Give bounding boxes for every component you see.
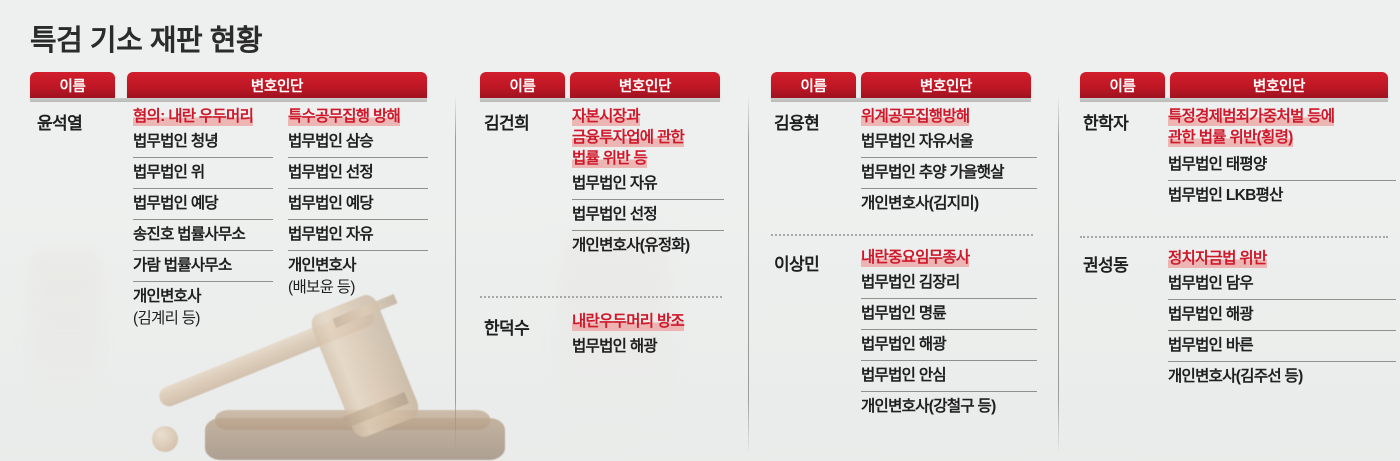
section-3: 이름 변호인단 김용현 위계공무집행방해 법무법인 자유서울 법무법인 추양 가… — [748, 72, 1058, 98]
charge-label-han-ducksoo: 내란우두머리 방조 — [572, 311, 724, 332]
section-3-header-row: 이름 변호인단 — [748, 72, 1058, 98]
section-4-header-underline — [1080, 98, 1388, 102]
section-4-header-row: 이름 변호인단 — [1058, 72, 1400, 98]
charge-column-kim-yonghyun: 위계공무집행방해 법무법인 자유서울 법무법인 추양 가을햇살 개인변호사(김지… — [861, 106, 1037, 219]
firm-item: 개인변호사(강철구 등) — [861, 392, 1037, 422]
charge-label-lee-sangmin: 내란중요임무종사 — [861, 247, 1037, 268]
firm-item: 법무법인 추양 가을햇살 — [861, 158, 1037, 189]
charge-text-han-ducksoo: 내란우두머리 방조 — [572, 313, 684, 331]
person-name-kim-yonghyun: 김용현 — [774, 109, 819, 134]
firm-item: 법무법인 자유 — [288, 220, 428, 251]
charge-text-lee-sangmin: 내란중요임무종사 — [861, 249, 969, 267]
charge-column-han-ducksoo: 내란우두머리 방조 법무법인 해광 — [572, 311, 724, 362]
section-divider-3 — [1058, 96, 1059, 454]
charge-text-line: 관한 법률 위반(횡령) — [1168, 129, 1293, 147]
charge-label-yoon-2: 특수공무집행 방해 — [288, 106, 428, 127]
person-separator-dotted — [771, 234, 1033, 236]
section-3-header-underline — [771, 98, 1031, 102]
section-1-counsel-header: 변호인단 — [127, 72, 427, 98]
charge-text-line: 자본시장과 — [572, 108, 640, 126]
section-1-name-header: 이름 — [30, 72, 115, 98]
charge-label-han-hakja: 특정경제범죄가중처벌 등에 관한 법률 위반(횡령) — [1168, 106, 1396, 148]
firm-item: 가람 법률사무소 — [133, 251, 273, 282]
section-2-counsel-header: 변호인단 — [570, 72, 720, 98]
section-2-header-underline — [480, 98, 720, 102]
firm-item: 법무법인 김장리 — [861, 268, 1037, 299]
person-separator-dotted — [480, 296, 722, 298]
person-name-yoon: 윤석열 — [37, 109, 82, 134]
section-3-counsel-header: 변호인단 — [861, 72, 1031, 98]
section-2: 이름 변호인단 김건희 자본시장과 금융투자업에 관한 법률 위반 등 법무법인… — [455, 72, 748, 98]
firm-item: 법무법인 자유 — [572, 169, 724, 200]
firm-item: 법무법인 위 — [133, 158, 273, 189]
person-separator-dotted — [1080, 236, 1388, 238]
firm-item: 개인변호사(김주선 등) — [1168, 362, 1396, 392]
firm-item: 법무법인 자유서울 — [861, 127, 1037, 158]
section-divider-1 — [455, 96, 456, 454]
charge-label-kwon-seongdong: 정치자금법 위반 — [1168, 248, 1396, 269]
firm-item: 법무법인 선정 — [288, 158, 428, 189]
charge-text-yoon-1: 혐의: 내란 우두머리 — [133, 108, 253, 126]
firm-item: 법무법인 안심 — [861, 361, 1037, 392]
charge-column-kwon-seongdong: 정치자금법 위반 법무법인 담우 법무법인 해광 법무법인 바른 개인변호사(김… — [1168, 248, 1396, 392]
charge-text-line: 법률 위반 등 — [572, 150, 647, 168]
charge-text-yoon-2: 특수공무집행 방해 — [288, 108, 400, 126]
section-2-header-row: 이름 변호인단 — [455, 72, 748, 98]
charge-label-kim-keonhee: 자본시장과 금융투자업에 관한 법률 위반 등 — [572, 106, 724, 169]
firm-item: 법무법인 태평양 — [1168, 150, 1396, 181]
section-1-header-row: 이름 변호인단 — [0, 72, 455, 98]
charge-label-kim-yonghyun: 위계공무집행방해 — [861, 106, 1037, 127]
firm-item: 법무법인 명륜 — [861, 299, 1037, 330]
person-name-han-hakja: 한학자 — [1083, 109, 1128, 134]
person-name-kwon-seongdong: 권성동 — [1083, 251, 1128, 276]
firm-item: 개인변호사(유정화) — [572, 231, 724, 261]
firm-item: 법무법인 해광 — [1168, 300, 1396, 331]
section-2-name-header: 이름 — [480, 72, 565, 98]
firm-item: 법무법인 청녕 — [133, 127, 273, 158]
section-divider-2 — [748, 96, 749, 454]
charge-text-kim-yonghyun: 위계공무집행방해 — [861, 108, 969, 126]
infographic-root: 특검 기소 재판 현황 이름 변호인단 윤석열 혐의: 내란 우두머리 법무법인… — [0, 0, 1400, 461]
charge-column-han-hakja: 특정경제범죄가중처벌 등에 관한 법률 위반(횡령) 법무법인 태평양 법무법인… — [1168, 106, 1396, 211]
firm-item: 법무법인 LKB평산 — [1168, 181, 1396, 211]
charge-text-line: 특정경제범죄가중처벌 등에 — [1168, 108, 1334, 126]
firm-item: 법무법인 예당 — [288, 189, 428, 220]
section-4-name-header: 이름 — [1080, 72, 1165, 98]
firm-item: 법무법인 해광 — [861, 330, 1037, 361]
section-1-header-underline — [30, 98, 427, 102]
firm-item: 법무법인 삼승 — [288, 127, 428, 158]
person-name-han-ducksoo: 한덕수 — [484, 314, 529, 339]
firm-item: 법무법인 바른 — [1168, 331, 1396, 362]
page-title: 특검 기소 재판 현황 — [30, 17, 262, 59]
charge-text-line: 금융투자업에 관한 — [572, 129, 684, 147]
firm-item: 개인변호사(김지미) — [861, 189, 1037, 219]
firm-item: 개인변호사 — [133, 282, 273, 308]
charge-label-yoon-1: 혐의: 내란 우두머리 — [133, 106, 273, 127]
section-3-name-header: 이름 — [771, 72, 856, 98]
person-name-kim-keonhee: 김건희 — [484, 109, 529, 134]
section-1: 이름 변호인단 윤석열 혐의: 내란 우두머리 법무법인 청녕 법무법인 위 법… — [0, 72, 455, 98]
firm-item-detail: (배보윤 등) — [288, 277, 428, 303]
firm-item-detail: (김계리 등) — [133, 308, 273, 334]
charge-column-lee-sangmin: 내란중요임무종사 법무법인 김장리 법무법인 명륜 법무법인 해광 법무법인 안… — [861, 247, 1037, 422]
charge-column-yoon-1: 혐의: 내란 우두머리 법무법인 청녕 법무법인 위 법무법인 예당 송진호 법… — [133, 106, 273, 334]
firm-item: 법무법인 선정 — [572, 200, 724, 231]
firm-item: 법무법인 해광 — [572, 332, 724, 362]
firm-item: 법무법인 담우 — [1168, 269, 1396, 300]
charge-text-kwon-seongdong: 정치자금법 위반 — [1168, 250, 1267, 268]
charge-column-kim-keonhee: 자본시장과 금융투자업에 관한 법률 위반 등 법무법인 자유 법무법인 선정 … — [572, 106, 724, 261]
person-name-lee-sangmin: 이상민 — [774, 250, 819, 275]
section-4-counsel-header: 변호인단 — [1170, 72, 1388, 98]
firm-item: 송진호 법률사무소 — [133, 220, 273, 251]
charge-column-yoon-2: 특수공무집행 방해 법무법인 삼승 법무법인 선정 법무법인 예당 법무법인 자… — [288, 106, 428, 303]
firm-item: 법무법인 예당 — [133, 189, 273, 220]
section-4: 이름 변호인단 한학자 특정경제범죄가중처벌 등에 관한 법률 위반(횡령) 법… — [1058, 72, 1400, 98]
firm-item: 개인변호사 — [288, 251, 428, 277]
